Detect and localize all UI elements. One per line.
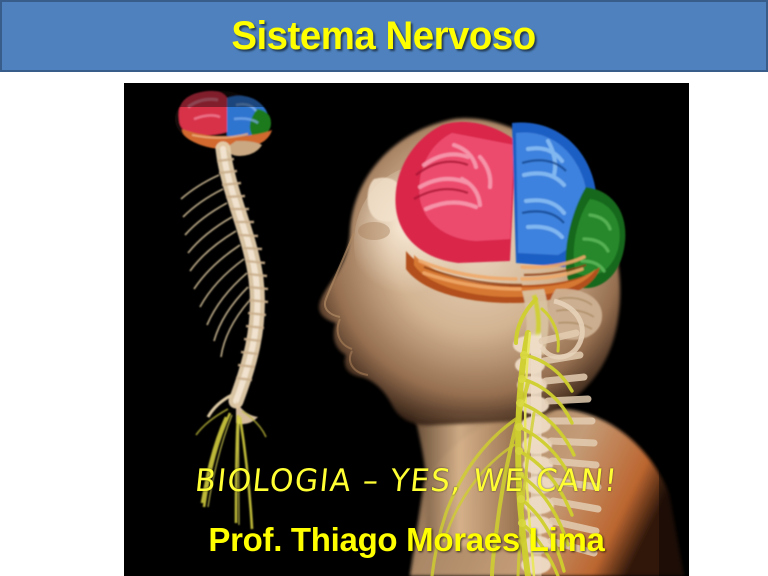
nervous-system-illustration	[124, 83, 689, 576]
caption-professor: Prof. Thiago Moraes Lima	[134, 523, 679, 556]
slide-title-bar: Sistema Nervoso	[0, 0, 768, 72]
nervous-system-image: BIOLOGIA – YES, WE CAN! Prof. Thiago Mor…	[124, 83, 689, 576]
page-title: Sistema Nervoso	[232, 16, 536, 56]
caption-biologia: BIOLOGIA – YES, WE CAN!	[141, 466, 673, 497]
